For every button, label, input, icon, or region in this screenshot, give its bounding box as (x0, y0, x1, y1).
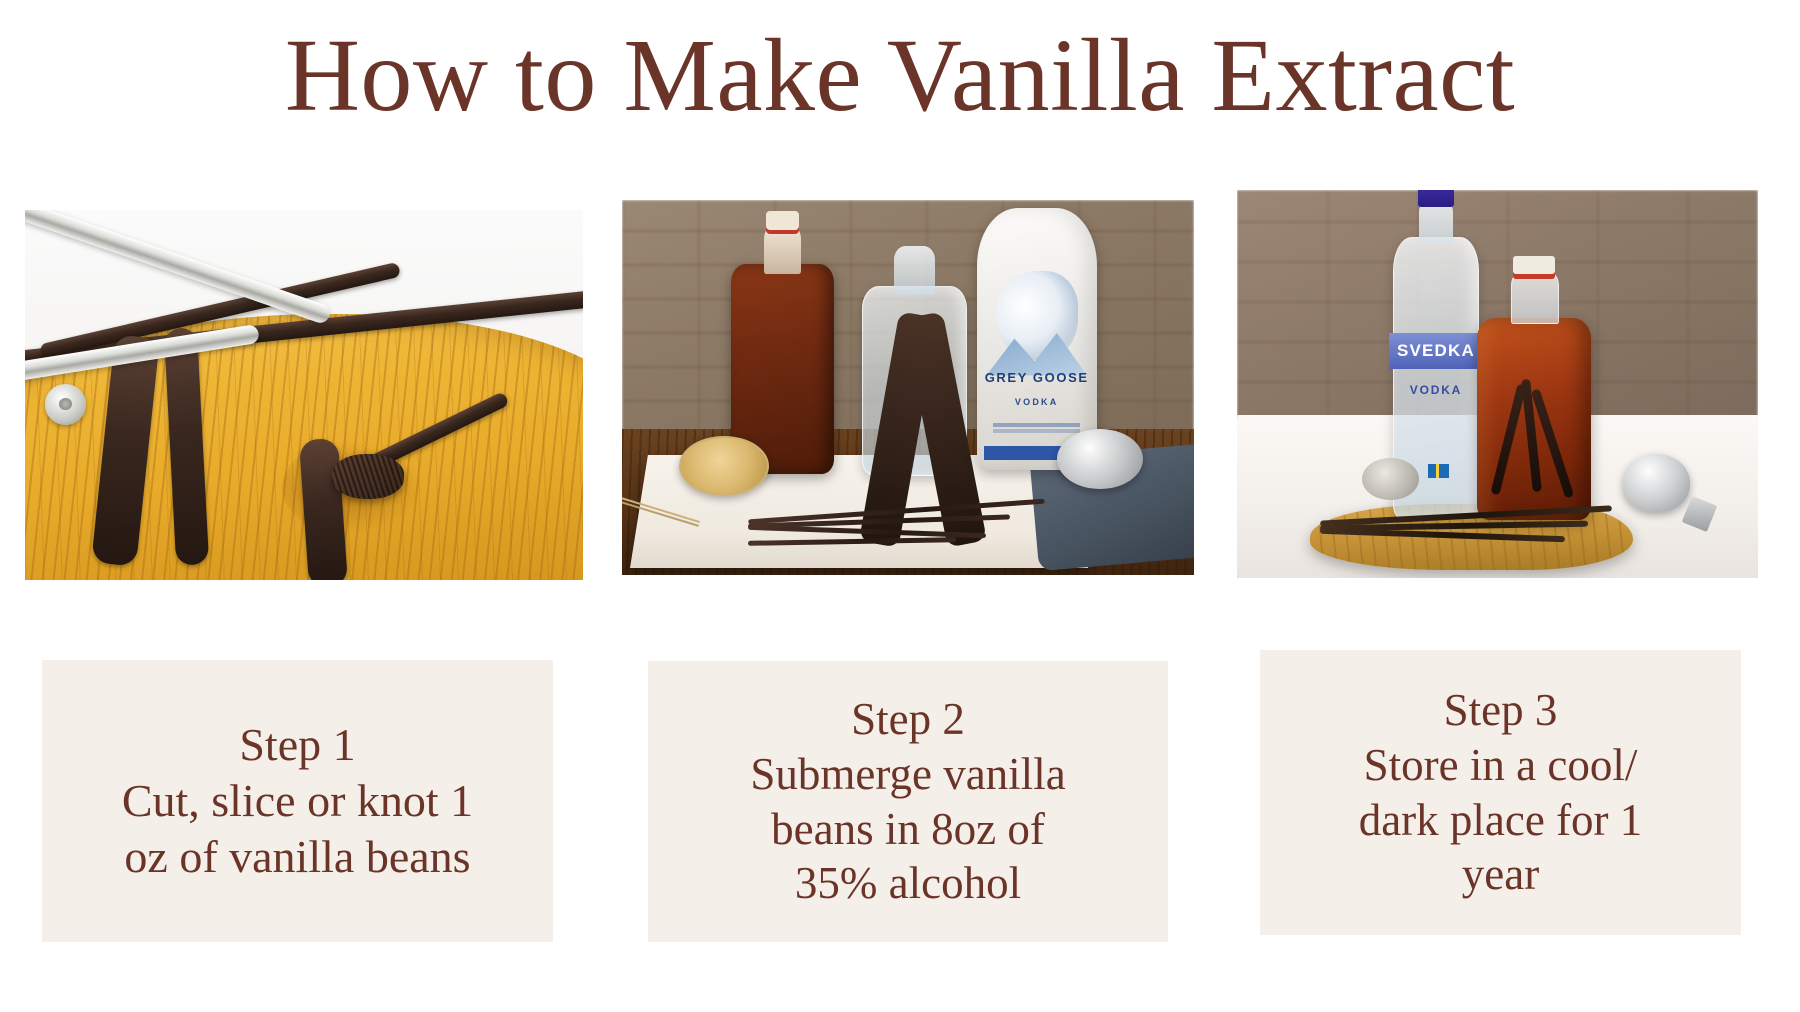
step-1-photo (25, 210, 583, 580)
step-3-photo: SVEDKA VODKA (1237, 190, 1758, 578)
swedish-flag-icon (1428, 464, 1450, 478)
metal-funnel (1057, 429, 1143, 489)
vanilla-bean (1320, 528, 1565, 542)
bottle-neck (1511, 270, 1559, 324)
page-title: How to Make Vanilla Extract (0, 18, 1800, 134)
step-1-caption-text: Step 1 Cut, slice or knot 1 oz of vanill… (108, 717, 487, 885)
finished-vanilla-extract-bottle (1477, 318, 1592, 520)
step-3-caption-text: Step 3 Store in a cool/ dark place for 1… (1345, 683, 1657, 903)
scissors-pivot-screw (45, 384, 87, 425)
step-2-caption-text: Step 2 Submerge vanilla beans in 8oz of … (736, 692, 1079, 912)
step-2-photo-canvas: GREY GOOSE VODKA (622, 200, 1194, 575)
grey-goose-fine-print (993, 423, 1079, 427)
grey-goose-vodka-bottle: GREY GOOSE VODKA (977, 208, 1097, 471)
knotted-vanilla-bean (332, 454, 405, 498)
vanilla-beans-on-board (748, 508, 1045, 553)
step-2-photo: GREY GOOSE VODKA (622, 200, 1194, 575)
step-1-photo-canvas (25, 210, 583, 580)
swing-top-cap (1513, 256, 1554, 274)
step-2-caption-box: Step 2 Submerge vanilla beans in 8oz of … (648, 661, 1168, 942)
step-3-photo-canvas: SVEDKA VODKA (1237, 190, 1758, 578)
mesh-strainer (679, 436, 769, 496)
bottle-neck (1419, 201, 1452, 243)
step-1-caption-box: Step 1 Cut, slice or knot 1 oz of vanill… (42, 660, 553, 942)
step-3-caption-box: Step 3 Store in a cool/ dark place for 1… (1260, 650, 1741, 935)
svedka-product-label: VODKA (1394, 383, 1477, 397)
bottle-cap (1418, 190, 1455, 207)
grey-goose-brand-label: GREY GOOSE (977, 370, 1097, 385)
metal-funnel (1623, 454, 1691, 512)
vanilla-bean (748, 537, 956, 546)
vanilla-bean-in-bottle (1491, 383, 1527, 495)
svedka-brand-label: SVEDKA (1389, 333, 1482, 369)
vanilla-beans-on-board (1320, 512, 1612, 547)
grey-goose-product-label: VODKA (977, 397, 1097, 407)
